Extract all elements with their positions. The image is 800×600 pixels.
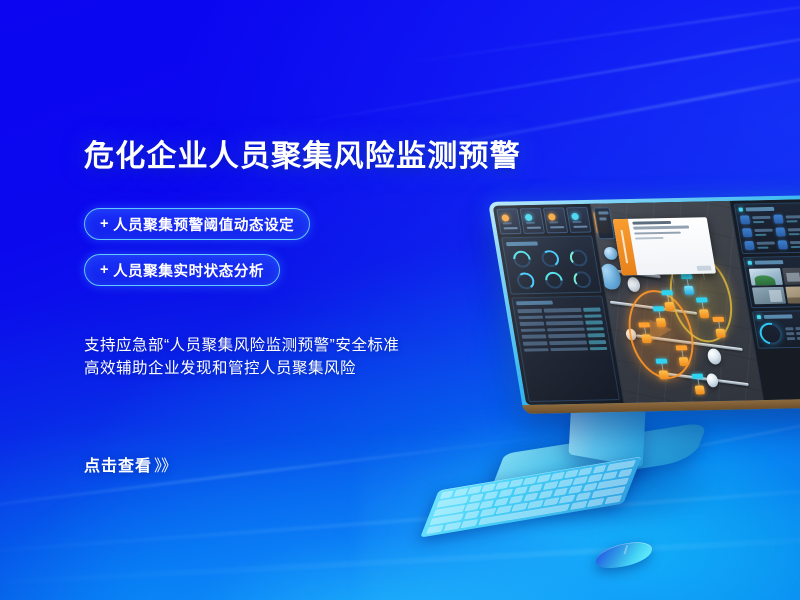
device-icon: [744, 241, 755, 250]
device-icon: [775, 227, 786, 236]
device-status-item[interactable]: [742, 228, 774, 238]
plus-icon: +: [100, 262, 109, 278]
camera-feed[interactable]: [752, 287, 786, 304]
gauge-ring: [565, 249, 593, 266]
device-icon: [777, 240, 788, 249]
camera-feed[interactable]: [782, 267, 800, 284]
camera-feed[interactable]: [749, 268, 783, 285]
block-title: [757, 314, 800, 319]
table-row: [518, 314, 601, 319]
description-line-2: 高效辅助企业发现和管控人员聚集风险: [84, 357, 399, 380]
page-title: 危化企业人员聚集风险监测预警: [84, 131, 521, 175]
device-status-item[interactable]: [775, 227, 800, 237]
feature-pill-group: + 人员聚集预警阈值动态设定 + 人员聚集实时状态分析: [84, 208, 310, 300]
device-status-grid: [740, 214, 800, 250]
promo-banner: 危化企业人员聚集风险监测预警 + 人员聚集预警阈值动态设定 + 人员聚集实时状态…: [0, 0, 800, 600]
device-icon: [773, 215, 784, 224]
info-popup[interactable]: [613, 217, 717, 275]
data-table-panel: [511, 296, 619, 402]
stat-card[interactable]: [566, 207, 591, 233]
camera-grid: [749, 267, 800, 304]
block-title: [747, 260, 800, 265]
block-title: [738, 206, 800, 211]
feature-pill-row: + 人员聚集实时状态分析: [84, 254, 310, 286]
stat-card[interactable]: [543, 207, 568, 233]
plus-icon: +: [100, 216, 109, 232]
table-row: [524, 347, 607, 352]
view-details-link[interactable]: 点击查看》》: [84, 452, 176, 476]
device-status-item[interactable]: [773, 214, 800, 224]
gauge-ring: [540, 272, 568, 289]
popup-action-button[interactable]: [697, 265, 712, 270]
device-status-item[interactable]: [740, 215, 772, 225]
feature-pill-row: + 人员聚集预警阈值动态设定: [84, 208, 310, 240]
device-status-block: [734, 202, 800, 254]
dashboard-screen[interactable]: [493, 199, 800, 405]
content-column: 危化企业人员聚集风险监测预警 + 人员聚集预警阈值动态设定 + 人员聚集实时状态…: [0, 0, 520, 600]
gauge-ring: [536, 250, 564, 267]
table-row: [517, 308, 600, 313]
chevron-double-right-icon: 》》: [154, 458, 176, 475]
monitor-frame: [488, 195, 800, 414]
risk-gauge-block: [752, 310, 800, 349]
device-icon: [742, 228, 753, 237]
camera-feeds-block: [743, 256, 800, 309]
dial-ring: [755, 319, 787, 349]
table-header: [516, 301, 553, 306]
device-status-item[interactable]: [777, 240, 800, 250]
feature-pill-threshold[interactable]: + 人员聚集预警阈值动态设定: [84, 208, 310, 240]
table-row: [523, 340, 606, 345]
cta-label: 点击查看: [84, 458, 152, 475]
feature-pill-label: 人员聚集实时状态分析: [113, 260, 264, 281]
risk-dial: [758, 322, 800, 345]
description-line-1: 支持应急部“人员聚集风险监测预警”安全标准: [84, 334, 399, 357]
table-row: [522, 334, 605, 339]
dial-metrics: [785, 326, 800, 340]
camera-feed[interactable]: [785, 286, 800, 303]
device-icon: [740, 215, 751, 224]
device-status-item[interactable]: [744, 241, 776, 251]
feature-pill-label: 人员聚集预警阈值动态设定: [113, 214, 294, 235]
gauge-grid: [507, 249, 596, 289]
monitor: [488, 195, 800, 414]
feature-pill-realtime[interactable]: + 人员聚集实时状态分析: [84, 254, 280, 286]
table-row: [521, 327, 604, 332]
gauge-ring: [568, 271, 596, 288]
table-row: [519, 321, 602, 326]
stat-card[interactable]: [520, 208, 545, 234]
description: 支持应急部“人员聚集风险监测预警”安全标准 高效辅助企业发现和管控人员聚集风险: [84, 334, 399, 380]
